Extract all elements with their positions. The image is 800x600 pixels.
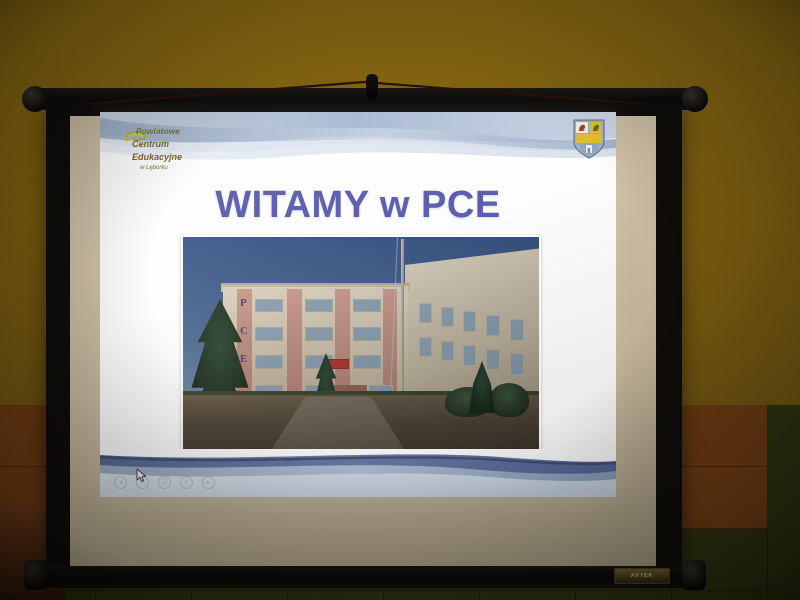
powerpoint-slide[interactable]: Powiatowe Centrum Edukacyjne w Lęborku W… [100, 112, 616, 497]
building-photograph: P C E [183, 237, 539, 463]
logo-line-2: Centrum [132, 139, 169, 149]
wall-tile [672, 591, 768, 600]
wall-tile [288, 591, 384, 600]
roller-cap-left [22, 86, 48, 112]
slide-bottom-wave-band [100, 449, 616, 497]
next-slide-button[interactable]: ▸ [202, 476, 215, 489]
wall-tile [576, 591, 672, 600]
zoom-button[interactable]: ⌕ [180, 476, 193, 489]
presentation-controls-bar[interactable]: ◂ ✎ ☰ ⌕ ▸ [114, 476, 215, 489]
logo-line-4: w Lęborku [140, 165, 168, 171]
slide-photo-frame: P C E [181, 235, 541, 465]
wall-tile [480, 591, 576, 600]
mouse-cursor-icon [136, 468, 147, 483]
bottom-cap-right [682, 560, 706, 590]
pce-logo: Powiatowe Centrum Edukacyjne w Lęborku [116, 126, 212, 174]
screen-ceiling-hook [366, 74, 378, 100]
bottom-wave-svg [100, 449, 616, 497]
logo-line-1: Powiatowe [136, 126, 180, 136]
bottom-cap-left [24, 560, 48, 590]
roller-cap-right [682, 86, 708, 112]
room-scene: AVTEK [0, 0, 800, 600]
wall-tile [384, 591, 480, 600]
wall-tile [192, 591, 288, 600]
screen-bottom-bar [34, 566, 694, 588]
logo-line-3: Edukacyjne [132, 152, 182, 162]
wall-tile [96, 591, 192, 600]
photo-lighting-overlay [183, 237, 539, 463]
screen-brand-plate: AVTEK [614, 568, 670, 584]
coat-of-arms-icon [572, 118, 606, 160]
slide-title: WITAMY w PCE [100, 184, 616, 227]
slide-menu-button[interactable]: ☰ [158, 476, 171, 489]
previous-slide-button[interactable]: ◂ [114, 476, 127, 489]
screen-brand-label: AVTEK [631, 573, 653, 579]
